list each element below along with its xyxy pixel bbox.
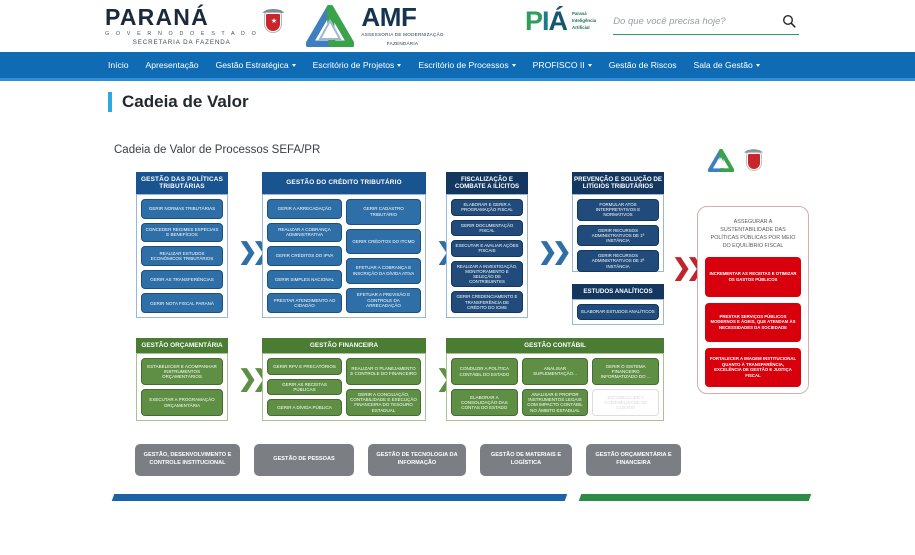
coat-star-shape: ★ [271, 19, 276, 24]
process-column: ANALISAR SUPLEMENTAÇÃO...ANALISAR E PROP… [522, 358, 589, 416]
page-title-row: Cadeia de Valor [108, 92, 249, 112]
strategic-objectives-panel[interactable]: ASSEGURAR A SUSTENTABILIDADE DAS POLÍTIC… [697, 206, 809, 394]
nav-item-label: Gestão Estratégica [216, 60, 289, 70]
nav-item-label: Escritório de Projetos [313, 60, 395, 70]
pia-letter-p: P [525, 6, 542, 36]
process-box[interactable]: GERIR A ARRECADAÇÃO [267, 199, 342, 219]
process-box[interactable]: CONCEDER REGIMES ESPECIAIS E BENEFÍCIOS [141, 223, 223, 243]
group-title-financeira: GESTÃO FINANCEIRA [262, 338, 426, 353]
group-title-politicas: GESTÃO DAS POLÍTICAS TRIBUTÁRIAS [136, 172, 228, 194]
nav-underline-divider [0, 78, 915, 81]
nav-item-profisco-ii[interactable]: PROFISCO II [533, 60, 592, 70]
coat-shield-shape-small [747, 153, 761, 170]
process-box[interactable]: GERIR CREDENCIAMENTO E TRANSFERÊNCIA DE … [451, 291, 523, 313]
process-box[interactable]: REALIZAR A INVESTIGAÇÃO, MONITORAMENTO E… [451, 261, 523, 288]
chevron-down-icon [756, 64, 760, 67]
chevron-down-icon [588, 64, 592, 67]
process-box[interactable]: GERIR AS RECEITAS PÚBLICAS [267, 379, 342, 396]
group-title-estudos: ESTUDOS ANALÍTICOS [572, 284, 664, 299]
process-box[interactable]: GERIR RPV E PRECATÓRIOS [267, 358, 342, 375]
group-body-orcamentaria: ESTABELECER E ACOMPANHAR INSTRUMENTOS OR… [136, 353, 228, 421]
pia-tagline-line1: Paraná [572, 11, 596, 18]
search-button[interactable] [779, 11, 799, 31]
footer-decoration [0, 494, 915, 506]
process-box[interactable]: GERIR RECURSOS ADMINISTRATIVOS DE 2ª INS… [577, 250, 659, 272]
support-processes-row: GESTÃO, DESENVOLVIMENTO E CONTROLE INSTI… [135, 444, 681, 476]
group-title-fiscalizacao: FISCALIZAÇÃO E COMBATE A ILÍCITOS [446, 172, 528, 194]
process-box[interactable]: EFETUAR A COBRANÇA E INSCRIÇÃO DA DÍVIDA… [346, 258, 421, 284]
objective-box[interactable]: FORTALECER A IMAGEM INSTITUCIONAL QUANTO… [705, 348, 801, 387]
pia-tagline: Paraná Inteligência Artificial [572, 11, 596, 31]
process-box[interactable]: ESTABELECER A CONTABILIDADE DE CUSTOS [592, 389, 659, 416]
site-header: PARANÁ G O V E R N O D O E S T A D O SEC… [0, 0, 915, 52]
support-process-box[interactable]: GESTÃO DE PESSOAS [254, 444, 354, 476]
parana-subtitle-secretaria: SECRETARIA DA FAZENDA [105, 39, 258, 46]
amf-triangle-icon [306, 5, 354, 47]
title-accent-bar [108, 92, 112, 112]
process-box[interactable]: GERIR SIMPLES NACIONAL [267, 270, 342, 290]
process-box[interactable]: GERIR CRÉDITOS DO ITCMD [346, 229, 421, 255]
group-body-estudos: ELABORAR ESTUDOS ANALÍTICOS [572, 299, 664, 325]
nav-item-label: Escritório de Processos [418, 60, 508, 70]
process-column: GERIR O SISTEMA FINANCEIRO INFORMATIZADO… [592, 358, 659, 416]
pia-tagline-line3: Artificial [572, 25, 596, 32]
pia-wordmark: PIÁ [525, 8, 567, 35]
search-bar[interactable] [613, 8, 799, 35]
page-subtitle: Cadeia de Valor de Processos SEFA/PR [114, 144, 320, 156]
parana-coat-of-arms-icon: ★ [262, 7, 284, 35]
process-box[interactable]: GERIR RECURSOS ADMINISTRATIVOS DE 1ª INS… [577, 225, 659, 247]
search-icon [782, 14, 796, 28]
footer-bar-green [579, 494, 812, 501]
process-box[interactable]: GERIR A CONCILIAÇÃO, CONTABILIDADE E EXE… [346, 389, 421, 416]
nav-item-in-cio[interactable]: Início [108, 60, 129, 70]
main-navigation: InícioApresentaçãoGestão EstratégicaEscr… [0, 52, 915, 78]
process-box[interactable]: GERIR NOTA FISCAL PARANÁ [141, 293, 223, 313]
process-box[interactable]: EXECUTAR A PROGRAMAÇÃO ORÇAMENTÁRIA [141, 389, 223, 416]
nav-item-label: Sala de Gestão [694, 60, 753, 70]
group-gestao-credito-tributario[interactable]: GESTÃO DO CRÉDITO TRIBUTÁRIO GERIR A ARR… [262, 172, 426, 318]
nav-item-label: Apresentação [146, 60, 199, 70]
chevron-down-icon [512, 64, 516, 67]
process-column: GERIR NORMAS TRIBUTÁRIASCONCEDER REGIMES… [141, 199, 223, 313]
parana-logo-text: PARANÁ G O V E R N O D O E S T A D O SEC… [105, 6, 258, 46]
group-body-financeira: GERIR RPV E PRECATÓRIOSGERIR AS RECEITAS… [262, 353, 426, 421]
group-body-politicas: GERIR NORMAS TRIBUTÁRIASCONCEDER REGIMES… [136, 194, 228, 318]
amf-logo-text: AMF ASSESSORIA DE MODERNIZAÇÃO FAZENDÁRI… [361, 4, 443, 48]
process-column: ESTABELECER E ACOMPANHAR INSTRUMENTOS OR… [141, 358, 223, 416]
amf-subtitle-line2: FAZENDÁRIA [361, 41, 443, 48]
process-column: CONDUZIR A POLÍTICA CONTÁBIL DO ESTADOEL… [451, 358, 518, 416]
objectives-main-title: ASSEGURAR A SUSTENTABILIDADE DAS POLÍTIC… [705, 213, 801, 252]
nav-item-gest-o-de-riscos[interactable]: Gestão de Riscos [609, 60, 677, 70]
process-box[interactable]: FORMULAR ATOS INTERPRETATIVOS E NORMATIV… [577, 199, 659, 221]
process-box[interactable]: GERIR AS TRANSFERÊNCIAS [141, 270, 223, 290]
process-box[interactable]: EFETUAR A PREVISÃO E CONTROLE DA ARRECAD… [346, 288, 421, 314]
process-box[interactable]: ELABORAR E GERIR A PROGRAMAÇÃO FISCAL [451, 199, 523, 216]
nav-item-label: PROFISCO II [533, 60, 585, 70]
group-gestao-financeira[interactable]: GESTÃO FINANCEIRA GERIR RPV E PRECATÓRIO… [262, 338, 426, 421]
page-bottom-edge [0, 545, 915, 555]
amf-logo[interactable]: AMF ASSESSORIA DE MODERNIZAÇÃO FAZENDÁRI… [306, 4, 443, 48]
pia-letter-a: Á [549, 6, 568, 36]
brand-logos: PARANÁ G O V E R N O D O E S T A D O SEC… [105, 4, 444, 48]
process-box[interactable]: ELABORAR A CONSOLIDAÇÃO DAS CONTAS DO ES… [451, 389, 518, 416]
process-box[interactable]: GERIR O SISTEMA FINANCEIRO INFORMATIZADO… [592, 358, 659, 385]
process-box[interactable]: GERIR NORMAS TRIBUTÁRIAS [141, 199, 223, 219]
chevron-down-icon [397, 64, 401, 67]
objective-box[interactable]: PRESTAR SERVIÇOS PÚBLICOS MODERNOS E ÁGE… [705, 303, 801, 342]
group-title-credito: GESTÃO DO CRÉDITO TRIBUTÁRIO [262, 172, 426, 194]
nav-item-gest-o-estrat-gica[interactable]: Gestão Estratégica [216, 60, 296, 70]
process-box[interactable]: GERIR CADASTRO TRIBUTÁRIO [346, 199, 421, 225]
process-column: GERIR RPV E PRECATÓRIOSGERIR AS RECEITAS… [267, 358, 342, 416]
group-body-credito: GERIR A ARRECADAÇÃOREALIZAR A COBRANÇA A… [262, 194, 426, 318]
process-column: REALIZAR O PLANEJAMENTO E CONTROLE DO FI… [346, 358, 421, 416]
process-column: ELABORAR E GERIR A PROGRAMAÇÃO FISCALGER… [451, 199, 523, 313]
parana-government-logo[interactable]: PARANÁ G O V E R N O D O E S T A D O SEC… [105, 6, 284, 46]
process-box[interactable]: GERIR A DÍVIDA PÚBLICA [267, 399, 342, 416]
process-box[interactable]: PRESTAR ATENDIMENTO AO CIDADÃO [267, 293, 342, 313]
nav-item-escrit-rio-de-projetos[interactable]: Escritório de Projetos [313, 60, 402, 70]
amf-subtitle-line1: ASSESSORIA DE MODERNIZAÇÃO [361, 32, 443, 39]
process-column: GERIR A ARRECADAÇÃOREALIZAR A COBRANÇA A… [267, 199, 342, 313]
footer-bar-blue [112, 494, 568, 501]
group-title-contabil: GESTÃO CONTÁBIL [446, 338, 664, 353]
pia-tagline-line2: Inteligência [572, 18, 596, 25]
parana-coat-of-arms-icon-small [744, 148, 763, 172]
value-chain-diagram: GESTÃO DAS POLÍTICAS TRIBUTÁRIAS GERIR N… [0, 162, 915, 487]
process-box[interactable]: CONDUZIR A POLÍTICA CONTÁBIL DO ESTADO [451, 358, 518, 385]
process-box[interactable]: REALIZAR A COBRANÇA ADMINISTRATIVA [267, 223, 342, 243]
amf-triangle-icon-small [708, 149, 734, 172]
chevron-down-icon [292, 64, 296, 67]
nav-item-sala-de-gest-o[interactable]: Sala de Gestão [694, 60, 760, 70]
group-fiscalizacao-combate-ilicitos[interactable]: FISCALIZAÇÃO E COMBATE A ILÍCITOS ELABOR… [446, 172, 528, 318]
nav-item-label: Gestão de Riscos [609, 60, 677, 70]
group-gestao-orcamentaria[interactable]: GESTÃO ORÇAMENTÁRIA ESTABELECER E ACOMPA… [136, 338, 228, 421]
process-box[interactable]: REALIZAR ESTUDOS ECONÔMICOS TRIBUTÁRIOS [141, 246, 223, 266]
process-box[interactable]: GERIR CRÉDITOS DO IPVA [267, 246, 342, 266]
group-body-fiscalizacao: ELABORAR E GERIR A PROGRAMAÇÃO FISCALGER… [446, 194, 528, 318]
search-input[interactable] [613, 16, 779, 27]
support-process-box[interactable]: GESTÃO ORÇAMENTÁRIA E FINANCEIRA [586, 444, 681, 476]
nav-item-escrit-rio-de-processos[interactable]: Escritório de Processos [418, 60, 515, 70]
support-process-box[interactable]: GESTÃO DE MATERIAIS E LOGÍSTICA [480, 444, 572, 476]
group-body-litigios: FORMULAR ATOS INTERPRETATIVOS E NORMATIV… [572, 194, 664, 272]
group-title-orcamentaria: GESTÃO ORÇAMENTÁRIA [136, 338, 228, 353]
amf-wordmark: AMF [361, 4, 443, 30]
page-title: Cadeia de Valor [122, 92, 249, 112]
pia-search-group: PIÁ Paraná Inteligência Artificial [525, 8, 799, 35]
process-column: FORMULAR ATOS INTERPRETATIVOS E NORMATIV… [577, 199, 659, 267]
group-title-litigios: PREVENÇÃO E SOLUÇÃO DE LITÍGIOS TRIBUTÁR… [572, 172, 664, 194]
objective-box[interactable]: INCREMENTAR AS RECEITAS E OTIMIZAR OS GA… [705, 257, 801, 296]
group-gestao-contabil[interactable]: GESTÃO CONTÁBIL CONDUZIR A POLÍTICA CONT… [446, 338, 664, 421]
pia-logo[interactable]: PIÁ Paraná Inteligência Artificial [525, 8, 596, 35]
process-column: GERIR CADASTRO TRIBUTÁRIOGERIR CRÉDITOS … [346, 199, 421, 313]
process-box[interactable]: GERIR DOCUMENTAÇÃO FISCAL [451, 220, 523, 237]
process-box[interactable]: ELABORAR ESTUDOS ANALÍTICOS [577, 304, 659, 320]
nav-items-container: InícioApresentaçãoGestão EstratégicaEscr… [108, 52, 760, 78]
parana-wordmark: PARANÁ [105, 6, 258, 29]
process-box[interactable]: ESTABELECER E ACOMPANHAR INSTRUMENTOS OR… [141, 358, 223, 385]
group-prevencao-solucao-litigios[interactable]: PREVENÇÃO E SOLUÇÃO DE LITÍGIOS TRIBUTÁR… [572, 172, 664, 272]
support-process-box[interactable]: GESTÃO, DESENVOLVIMENTO E CONTROLE INSTI… [135, 444, 240, 476]
chevron-separator-3: ❯❯ [538, 240, 567, 263]
group-estudos-analiticos[interactable]: ESTUDOS ANALÍTICOS ELABORAR ESTUDOS ANAL… [572, 284, 664, 325]
process-box[interactable]: ANALISAR SUPLEMENTAÇÃO... [522, 358, 589, 385]
nav-item-label: Início [108, 60, 129, 70]
objectives-list: INCREMENTAR AS RECEITAS E OTIMIZAR OS GA… [705, 257, 801, 387]
process-box[interactable]: REALIZAR O PLANEJAMENTO E CONTROLE DO FI… [346, 358, 421, 385]
parana-subtitle-government: G O V E R N O D O E S T A D O [105, 31, 258, 37]
nav-item-apresenta-o[interactable]: Apresentação [146, 60, 199, 70]
page-root: PARANÁ G O V E R N O D O E S T A D O SEC… [0, 0, 915, 555]
process-box[interactable]: ANALISAR E PROPOR INSTRUMENTOS LEGAIS CO… [522, 389, 589, 416]
group-body-contabil: CONDUZIR A POLÍTICA CONTÁBIL DO ESTADOEL… [446, 353, 664, 421]
process-box[interactable]: EXECUTAR E AVALIAR AÇÕES FISCAIS [451, 240, 523, 257]
support-process-box[interactable]: GESTÃO DE TECNOLOGIA DA INFORMAÇÃO [368, 444, 466, 476]
group-gestao-politicas-tributarias[interactable]: GESTÃO DAS POLÍTICAS TRIBUTÁRIAS GERIR N… [136, 172, 228, 318]
diagram-logos [708, 148, 763, 172]
process-column: ELABORAR ESTUDOS ANALÍTICOS [577, 304, 659, 320]
